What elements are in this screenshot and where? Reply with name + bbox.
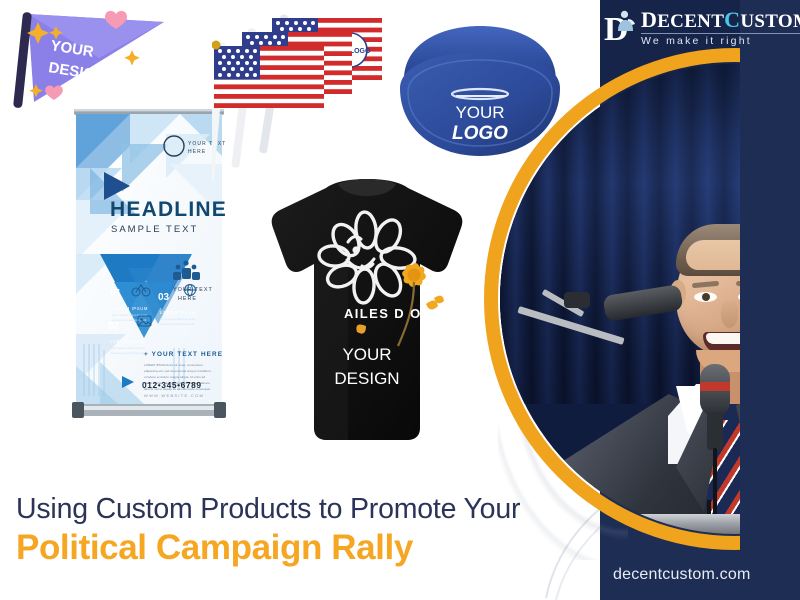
brand-tagline: We make it right [641,33,800,48]
banner-phone: 012•345•6789 [142,380,202,390]
banner-step-02-label: LOREM IPSUM [110,339,146,344]
banner-step-01-label: LOREM IPSUM [112,306,148,311]
decent-custom-d-monogram-icon: D [604,9,640,49]
tshirt-text-line2: DESIGN [334,369,399,388]
banner-step-03: 03 [158,292,170,303]
custom-pennant-flag: YOUR DESIGN [4,6,172,110]
headline-line-2: Political Campaign Rally [16,527,586,569]
visor-text-line1: YOUR [455,103,504,122]
banner-circle-text-2: HERE [188,149,206,155]
svg-text:adipiscing elit, sed do eiusmo: adipiscing elit, sed do eiusmod tempor i… [144,369,211,373]
banner-step-03-label: LOREM IPSUM [160,310,196,315]
svg-text:lorem ipsum dolor sit amet: lorem ipsum dolor sit amet [160,317,195,321]
promo-banner-canvas: D DECENTCUSTOM We make it right decentcu… [0,0,800,600]
banner-step-02: 02 [108,321,120,332]
svg-text:LOREM IPSUM dolor sit amet, co: LOREM IPSUM dolor sit amet, consectetur [144,363,203,367]
banner-icon-text-2: HERE [178,296,197,302]
website-url[interactable]: decentcustom.com [613,566,750,584]
custom-sun-visor: YOUR LOGO [396,26,564,171]
person-silhouette-icon [616,10,636,32]
brand-name: DECENTCUSTOM [641,10,800,32]
tshirt-print-text: AILES D ORFY [344,306,452,321]
svg-text:consectetur adipiscing elit: consectetur adipiscing elit [160,322,195,326]
custom-rollup-banner: YOUR TEXT HERE HEADLINE SAMPLE TEXT YOUR… [70,104,228,434]
banner-step-01: 01 [110,288,122,299]
svg-text:ut labore et dolore magna aliq: ut labore et dolore magna aliqua. Ut eni… [144,375,205,379]
svg-text:lorem ipsum dolor sit amet: lorem ipsum dolor sit amet [110,346,145,350]
headline-line-1: Using Custom Products to Promote Your [16,492,586,526]
headline-block: Using Custom Products to Promote Your Po… [16,492,586,569]
custom-tshirt: AILES D ORFY YOUR DESIGN [248,178,486,460]
banner-headline: HEADLINE [110,198,227,221]
svg-text:consectetur adipiscing elit: consectetur adipiscing elit [110,351,145,355]
banner-subhead: SAMPLE TEXT [111,224,198,235]
visor-text-line2: LOGO [452,123,508,144]
brand-logo[interactable]: D DECENTCUSTOM We make it right [604,6,800,52]
tshirt-text-line1: YOUR [342,345,391,364]
custom-usa-hand-flags: YOURLOGO [212,4,402,184]
banner-website: WWW.WEBSITE.COM [144,393,204,398]
banner-section-title: + YOUR TEXT HERE [144,351,223,358]
